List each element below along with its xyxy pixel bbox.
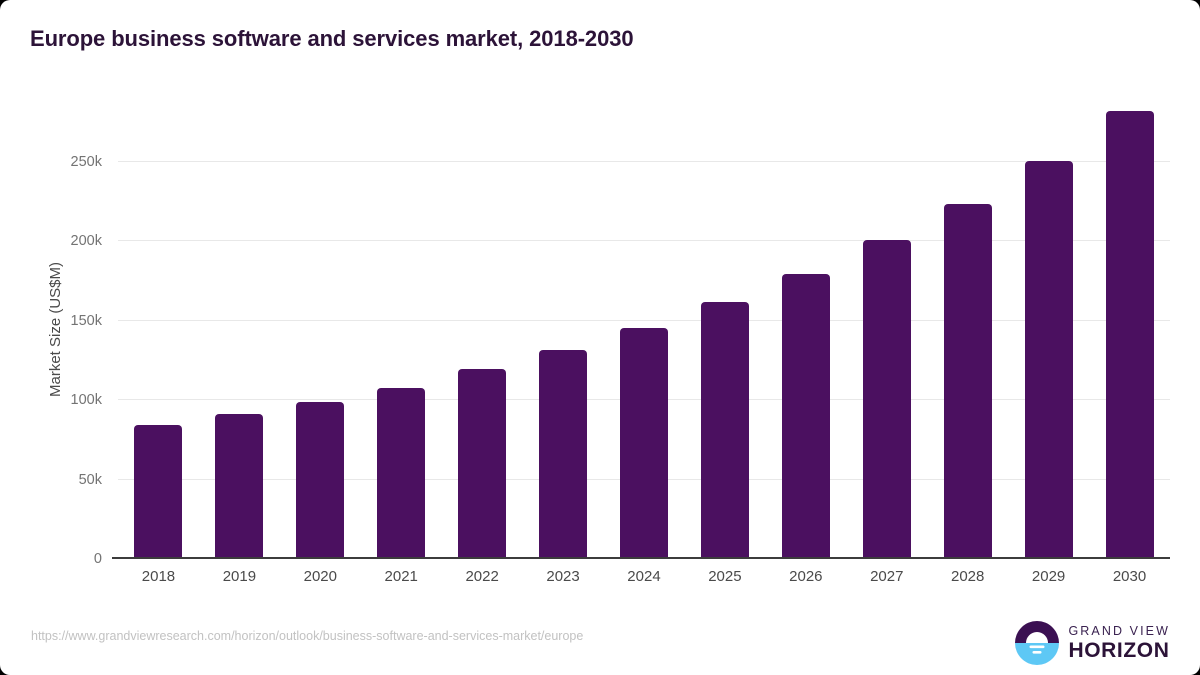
source-url[interactable]: https://www.grandviewresearch.com/horizo…: [31, 629, 583, 643]
y-axis-tick-label: 200k: [71, 233, 102, 249]
bar[interactable]: [539, 350, 587, 559]
bar[interactable]: [944, 204, 992, 559]
bar-slot: [361, 100, 442, 559]
page-title: Europe business software and services ma…: [30, 26, 633, 52]
x-axis-tick-label: 2019: [199, 568, 280, 585]
bar-slot: [604, 100, 685, 559]
x-axis-tick-label: 2029: [1008, 568, 1089, 585]
x-axis-tick-label: 2021: [361, 568, 442, 585]
bar-slot: [1089, 100, 1170, 559]
horizon-sun-icon: [1015, 621, 1059, 665]
x-axis-tick-label: 2022: [442, 568, 523, 585]
x-axis-tick-label: 2030: [1089, 568, 1170, 585]
x-axis-tick-label: 2024: [604, 568, 685, 585]
y-axis-tick-label: 50k: [79, 472, 102, 488]
x-axis-tick-label: 2025: [684, 568, 765, 585]
x-axis-tick-label: 2023: [523, 568, 604, 585]
bar-slot: [684, 100, 765, 559]
logo-line-grand-view: GRAND VIEW: [1068, 625, 1170, 638]
chart-page: Europe business software and services ma…: [0, 0, 1200, 675]
bar[interactable]: [782, 274, 830, 559]
bar-series: [118, 100, 1170, 559]
bar-slot: [1008, 100, 1089, 559]
bar[interactable]: [1106, 111, 1154, 559]
x-axis-tick-labels: 2018201920202021202220232024202520262027…: [118, 568, 1170, 585]
bar[interactable]: [458, 369, 506, 559]
x-axis-tick-label: 2018: [118, 568, 199, 585]
bar[interactable]: [377, 388, 425, 559]
bar-slot: [846, 100, 927, 559]
bar-slot: [442, 100, 523, 559]
y-axis-tick-label: 250k: [71, 154, 102, 170]
x-axis-tick-label: 2026: [765, 568, 846, 585]
bar[interactable]: [215, 414, 263, 559]
bar-slot: [118, 100, 199, 559]
bar-slot: [765, 100, 846, 559]
x-axis-line: [112, 557, 1170, 559]
y-axis-tick-labels: 050k100k150k200k250k: [0, 100, 110, 559]
x-axis-tick-label: 2020: [280, 568, 361, 585]
y-axis-tick-label: 150k: [71, 313, 102, 329]
logo-text: GRAND VIEW HORIZON: [1068, 625, 1170, 662]
bar[interactable]: [1025, 161, 1073, 559]
grand-view-horizon-logo[interactable]: GRAND VIEW HORIZON: [1015, 619, 1170, 667]
bar[interactable]: [620, 328, 668, 559]
logo-line-horizon: HORIZON: [1068, 640, 1170, 661]
y-axis-tick-label: 100k: [71, 392, 102, 408]
bar[interactable]: [296, 402, 344, 559]
bar-slot: [199, 100, 280, 559]
bar-slot: [523, 100, 604, 559]
y-axis-tick-label: 0: [94, 551, 102, 567]
bar[interactable]: [701, 302, 749, 559]
bar[interactable]: [863, 240, 911, 559]
bar-slot: [927, 100, 1008, 559]
bar[interactable]: [134, 425, 182, 559]
plot-area: [118, 100, 1170, 559]
x-axis-tick-label: 2027: [846, 568, 927, 585]
x-axis-tick-label: 2028: [927, 568, 1008, 585]
bar-slot: [280, 100, 361, 559]
